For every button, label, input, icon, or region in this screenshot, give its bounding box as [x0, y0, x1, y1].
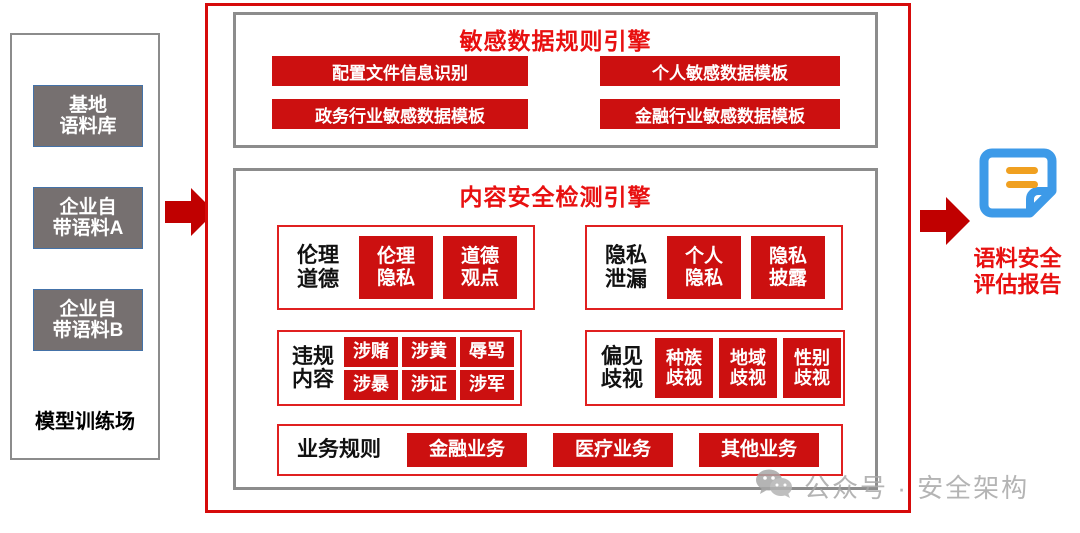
violation-tag-grid: 涉赌 涉黄 辱骂 涉暴 涉证 涉军	[344, 337, 514, 400]
tag-abuse[interactable]: 辱骂	[460, 337, 514, 367]
document-report-icon	[978, 139, 1070, 231]
category-label-business-rules: 业务规则	[297, 438, 381, 461]
tag-gender-discrimination[interactable]: 性别 歧视	[783, 338, 841, 398]
tag-regional-discrimination[interactable]: 地域 歧视	[719, 338, 777, 398]
content-engine-title: 内容安全检测引擎	[236, 178, 875, 212]
rule-button-personal-sensitive-template[interactable]: 个人敏感数据模板	[600, 56, 840, 86]
rules-engine-title: 敏感数据规则引擎	[236, 22, 875, 56]
tag-other-business[interactable]: 其他业务	[699, 433, 819, 467]
category-group-violation-content: 违规 内容 涉赌 涉黄 辱骂 涉暴 涉证 涉军	[277, 330, 522, 406]
category-label-bias-discrimination: 偏见 歧视	[595, 345, 649, 391]
tag-medical-business[interactable]: 医疗业务	[553, 433, 673, 467]
wechat-icon	[755, 468, 795, 505]
tag-gambling[interactable]: 涉赌	[344, 337, 398, 367]
tag-finance-business[interactable]: 金融业务	[407, 433, 527, 467]
model-training-panel-label: 模型训练场	[12, 405, 158, 434]
category-label-privacy-leak: 隐私 泄漏	[595, 244, 657, 290]
category-group-bias-discrimination: 偏见 歧视 种族 歧视 地域 歧视 性别 歧视	[585, 330, 845, 406]
watermark-text: 公众号 · 安全架构	[804, 468, 1029, 505]
model-training-panel: 基地 语料库 企业自 带语料A 企业自 带语料B 模型训练场	[10, 33, 160, 460]
category-label-violation-content: 违规 内容	[285, 345, 341, 391]
tag-privacy-disclosure[interactable]: 隐私 披露	[751, 236, 825, 299]
category-group-ethics: 伦理 道德 伦理 隐私 道德 观点	[277, 225, 535, 310]
diagram-canvas: 基地 语料库 企业自 带语料A 企业自 带语料B 模型训练场 敏感数据规则引擎 …	[0, 0, 1080, 533]
category-label-ethics: 伦理 道德	[287, 244, 349, 290]
corpus-box-base[interactable]: 基地 语料库	[33, 85, 143, 147]
watermark: 公众号 · 安全架构	[755, 468, 1029, 505]
tag-credentials[interactable]: 涉证	[402, 370, 456, 400]
corpus-box-enterprise-a[interactable]: 企业自 带语料A	[33, 187, 143, 249]
rule-button-config-file-info[interactable]: 配置文件信息识别	[272, 56, 528, 86]
corpus-box-enterprise-b[interactable]: 企业自 带语料B	[33, 289, 143, 351]
arrow-right-icon-right	[920, 195, 970, 247]
tag-moral-viewpoint[interactable]: 道德 观点	[443, 236, 517, 299]
category-group-privacy-leak: 隐私 泄漏 个人 隐私 隐私 披露	[585, 225, 843, 310]
tag-personal-privacy[interactable]: 个人 隐私	[667, 236, 741, 299]
tag-military[interactable]: 涉军	[460, 370, 514, 400]
tag-ethics-privacy[interactable]: 伦理 隐私	[359, 236, 433, 299]
rule-button-government-sensitive-template[interactable]: 政务行业敏感数据模板	[272, 99, 528, 129]
rule-button-finance-sensitive-template[interactable]: 金融行业敏感数据模板	[600, 99, 840, 129]
tag-pornography[interactable]: 涉黄	[402, 337, 456, 367]
report-label: 语料安全 评估报告	[955, 246, 1080, 298]
tag-racial-discrimination[interactable]: 种族 歧视	[655, 338, 713, 398]
tag-violence[interactable]: 涉暴	[344, 370, 398, 400]
